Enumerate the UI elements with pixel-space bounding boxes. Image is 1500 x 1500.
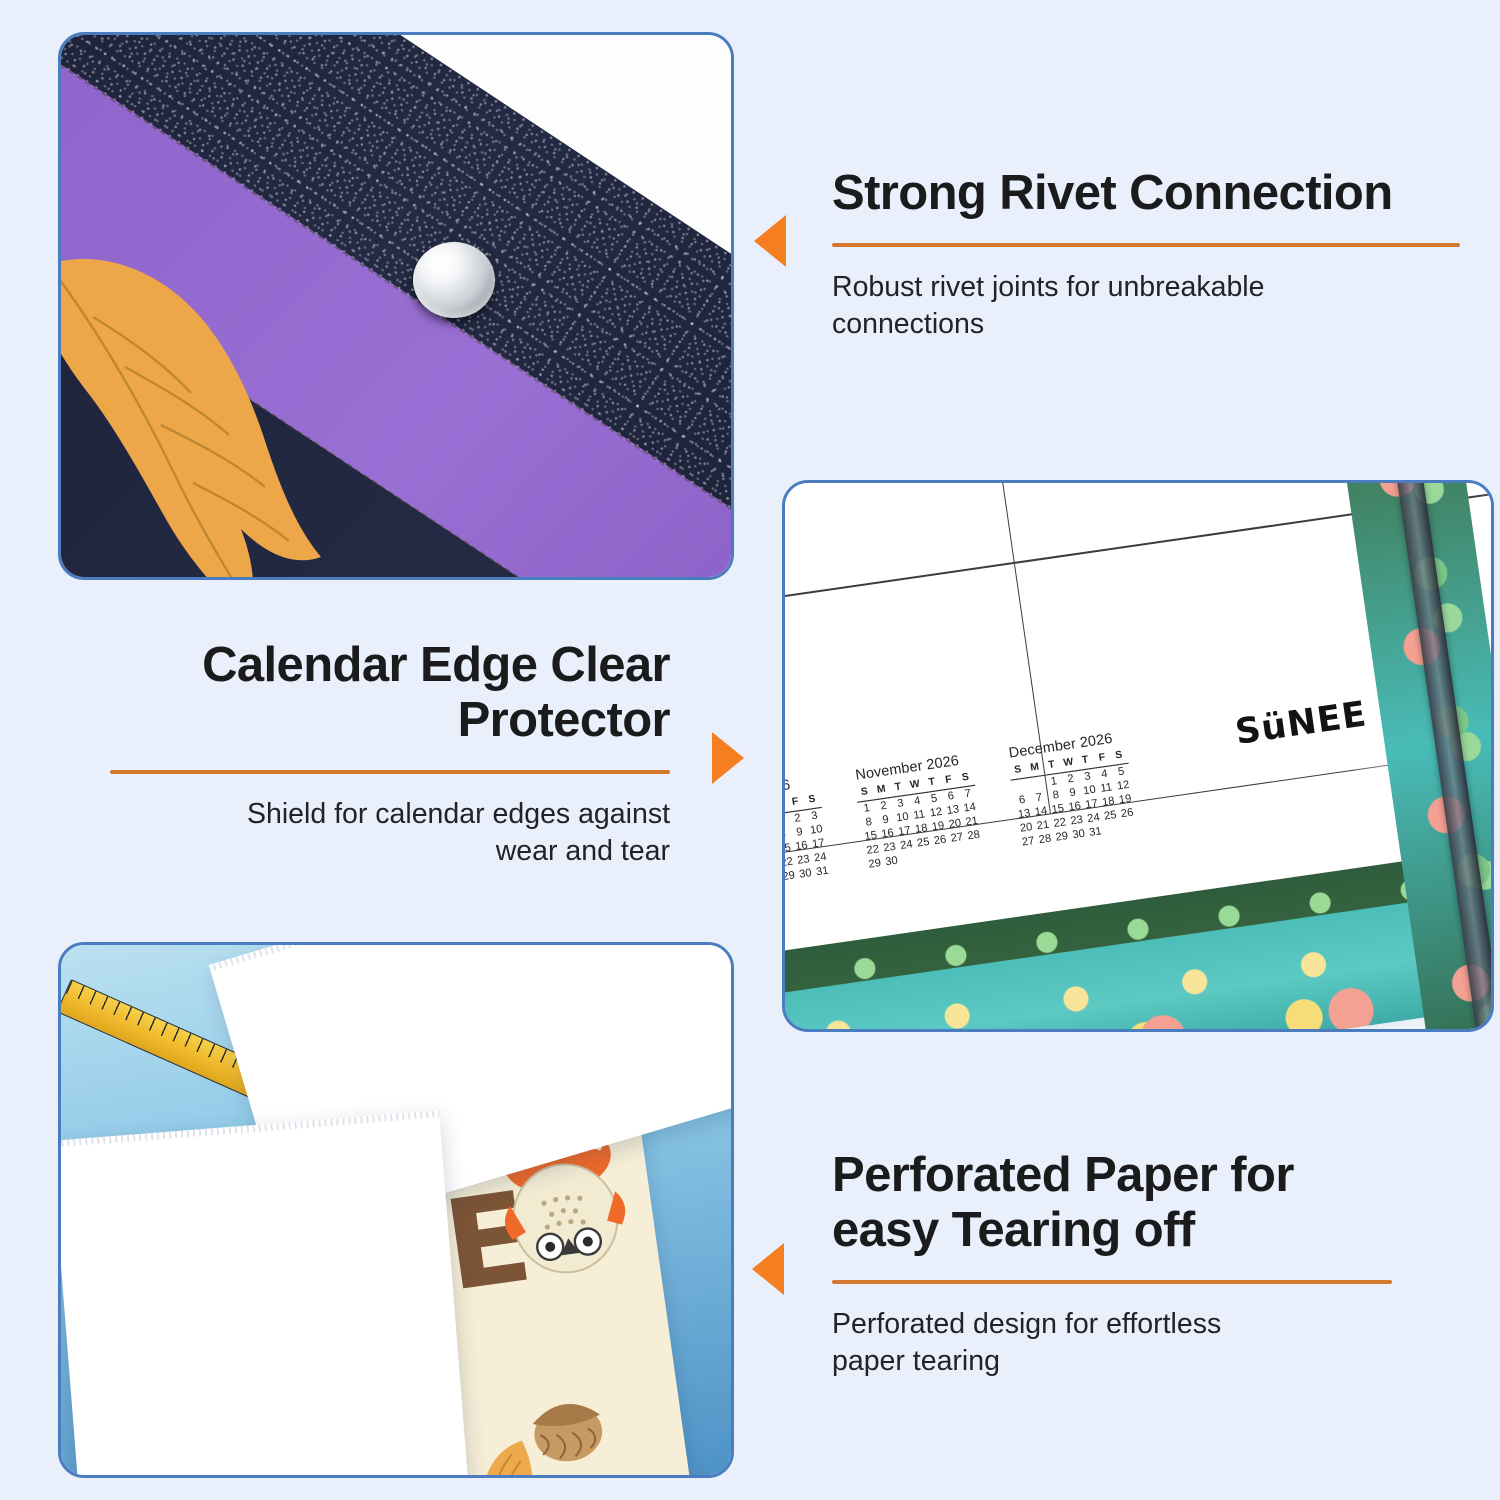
feature-subtitle-perforated: Perforated design for effortless paper t… xyxy=(832,1306,1392,1381)
photo-panel-perforated-paper: SE xyxy=(58,942,734,1478)
mini-calendar-row: October 2026 SMTWTFS 1234567891011121314… xyxy=(782,728,1139,886)
mini-calendar-day xyxy=(967,841,986,857)
rivet-snap-icon xyxy=(413,242,495,318)
feature-divider-perforated xyxy=(832,1280,1392,1284)
arrow-left-icon-3 xyxy=(752,1243,784,1295)
mini-calendar-table: SMTWTFS 12345678910111213141516171819202… xyxy=(1009,747,1139,849)
mini-calendar-body: 1234567891011121314151617181920212223242… xyxy=(782,807,832,894)
mini-calendar-day: 12 xyxy=(1114,777,1133,793)
mini-calendar-day: 21 xyxy=(963,813,982,829)
mini-calendar-day xyxy=(1120,819,1139,835)
feature-subtitle-protector: Shield for calendar edges against wear a… xyxy=(110,796,670,871)
feature-text-rivet: Strong Rivet Connection Robust rivet joi… xyxy=(832,166,1460,344)
perforation-edge-top xyxy=(209,942,734,972)
arrow-right-icon-2 xyxy=(712,732,744,784)
infographic-canvas: Strong Rivet Connection Robust rivet joi… xyxy=(0,0,1500,1500)
mini-calendar-day: 24 xyxy=(811,849,830,865)
photo-panel-rivet xyxy=(58,32,734,580)
brand-logo: SüNEE xyxy=(1233,694,1370,752)
mini-calendar-december: December 2026 SMTWTFS 123456789101112131… xyxy=(1006,728,1139,849)
acorn-icon-2 xyxy=(461,1429,558,1478)
feature-title-protector: Calendar Edge Clear Protector xyxy=(110,638,670,748)
mini-calendar-day: 17 xyxy=(809,835,828,851)
arrow-left-icon-1 xyxy=(754,215,786,267)
torn-sheet-left xyxy=(58,1111,473,1478)
feature-title-rivet: Strong Rivet Connection xyxy=(832,166,1460,221)
feature-text-protector: Calendar Edge Clear Protector Shield for… xyxy=(110,638,670,871)
feature-subtitle-rivet: Robust rivet joints for unbreakable conn… xyxy=(832,269,1460,344)
mini-calendar-november: November 2026 SMTWTFS 123456789101112131… xyxy=(853,751,986,872)
maple-leaf-illustration xyxy=(58,221,441,580)
mini-calendar-table: SMTWTFS 12345678910111213141516171819202… xyxy=(782,791,832,893)
feature-divider-rivet xyxy=(832,243,1460,247)
mini-calendar-day: 19 xyxy=(1116,791,1135,807)
feature-text-perforated: Perforated Paper for easy Tearing off Pe… xyxy=(832,1148,1392,1381)
feature-divider-protector xyxy=(110,770,670,774)
mini-calendar-day: 26 xyxy=(1118,805,1137,821)
mini-calendar-october: October 2026 SMTWTFS 1234567891011121314… xyxy=(782,773,832,894)
mini-calendar-day: 28 xyxy=(965,827,984,843)
mini-calendar-day: 14 xyxy=(961,799,980,815)
mini-calendar-day: 10 xyxy=(807,821,826,837)
photo-panel-calendar: October 2026 SMTWTFS 1234567891011121314… xyxy=(782,480,1494,1032)
mini-calendar-day: 31 xyxy=(813,863,832,879)
feature-title-perforated: Perforated Paper for easy Tearing off xyxy=(832,1148,1392,1258)
mini-calendar-table: SMTWTFS 12345678910111213141516171819202… xyxy=(856,769,986,871)
